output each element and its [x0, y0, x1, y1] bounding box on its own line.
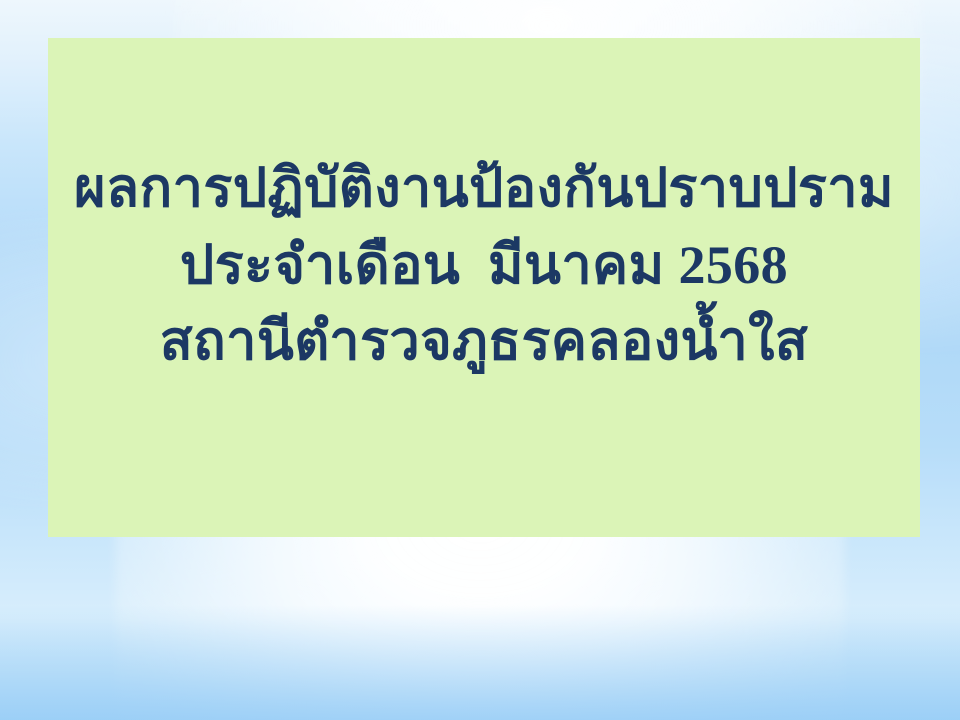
title-line-3: สถานีตำรวจภูธรคลองน้ำใส	[48, 303, 920, 380]
title-line-1: ผลการปฏิบัติงานป้องกันปราบปราม	[48, 150, 920, 227]
background-bottom-tint	[0, 605, 960, 720]
title-slide: ผลการปฏิบัติงานป้องกันปราบปราม ประจำเดือ…	[0, 0, 960, 720]
page-title: ผลการปฏิบัติงานป้องกันปราบปราม ประจำเดือ…	[48, 150, 920, 380]
title-line-2: ประจำเดือน มีนาคม 2568	[48, 227, 920, 304]
title-panel: ผลการปฏิบัติงานป้องกันปราบปราม ประจำเดือ…	[48, 38, 920, 537]
